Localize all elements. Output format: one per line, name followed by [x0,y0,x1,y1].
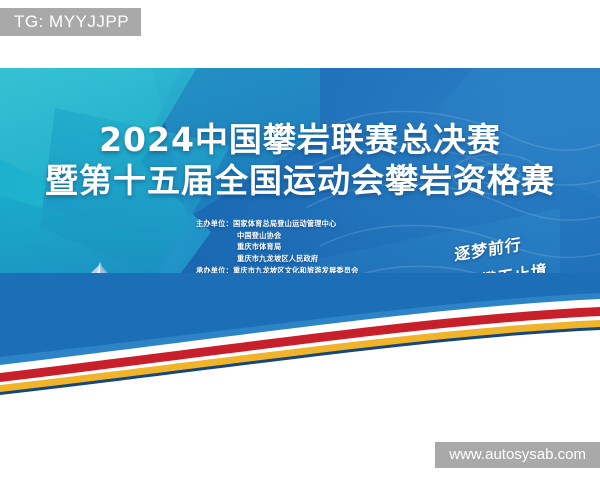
organizer-value-3: 重庆市体育局 [237,241,281,253]
credit-row-organizer-2: 中国登山协会 [196,230,359,242]
credit-row-organizer-3: 重庆市体育局 [196,241,359,253]
organizer-value-4: 重庆市九龙坡区人民政府 [237,253,318,265]
organizer-value-2: 中国登山协会 [237,230,281,242]
site-watermark: www.autosysab.com [435,442,600,468]
credit-row-organizer: 主办单位： 国家体育总局登山运动管理中心 [196,218,359,230]
bottom-wave-decoration [0,273,600,413]
tg-watermark-banner: TG: MYYJJPP [0,8,141,36]
organizer-label: 主办单位： [196,218,233,230]
poster-image: 2024中国攀岩联赛总决赛 暨第十五届全国运动会攀岩资格赛 主办单位： 国家体育… [0,68,600,413]
credit-row-organizer-4: 重庆市九龙坡区人民政府 [196,253,359,265]
organizer-value-1: 国家体育总局登山运动管理中心 [233,218,336,230]
calligraphy-line-1: 逐梦前行 [454,231,522,266]
